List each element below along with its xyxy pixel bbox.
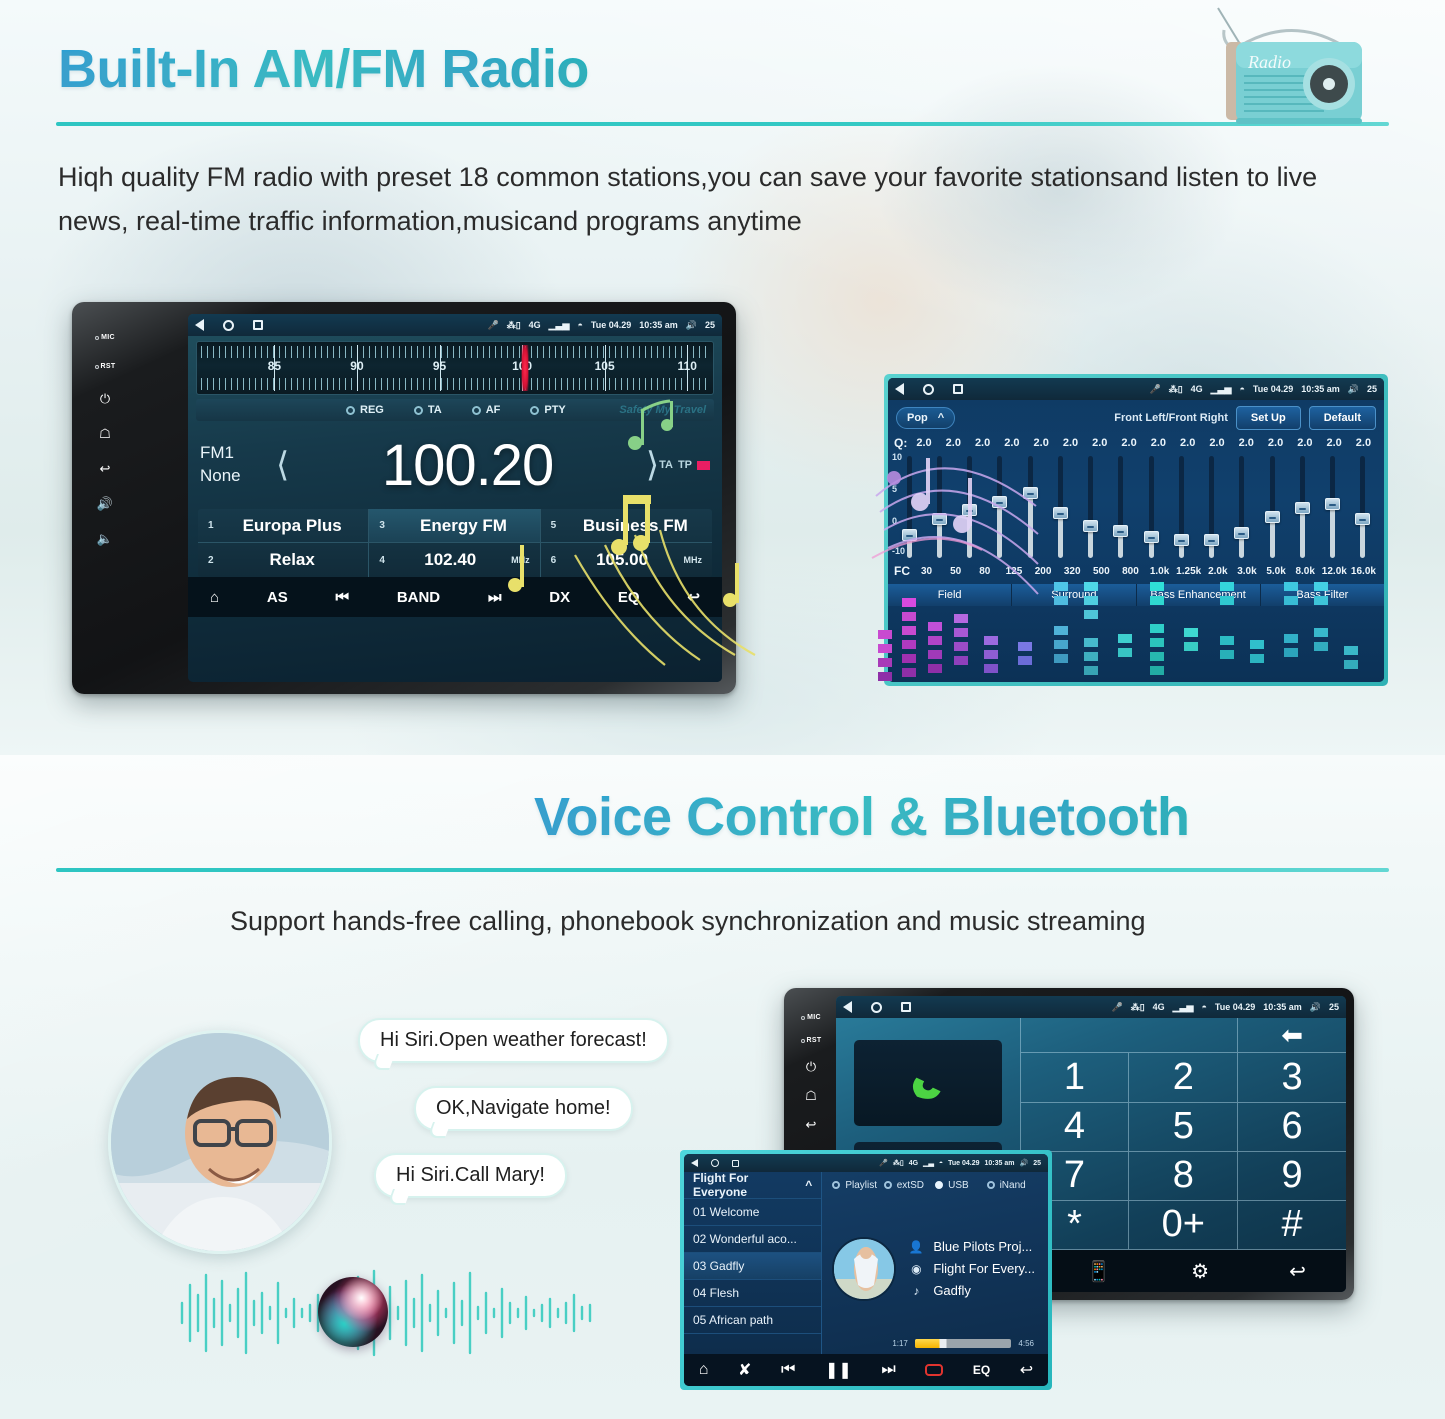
q-value[interactable]: 2.0 xyxy=(1085,437,1114,449)
eq-slider[interactable] xyxy=(1287,450,1317,562)
status-date: Tue 04.29 xyxy=(591,320,631,330)
dialpad-status-bar: 🎤 ⁂▯ 4G ▁▃▅ ◓ Tue 04.29 10:35 am 🔊 25 xyxy=(836,996,1346,1018)
preset-number: 3 xyxy=(379,520,389,531)
repeat-icon[interactable] xyxy=(925,1364,943,1376)
pause-icon[interactable]: ❚❚ xyxy=(825,1360,852,1380)
list-item[interactable]: 01 Welcome xyxy=(684,1199,821,1226)
q-value[interactable]: 2.0 xyxy=(1290,437,1319,449)
mic-button[interactable]: MIC xyxy=(95,334,115,341)
album-art xyxy=(832,1237,896,1301)
avatar xyxy=(108,1030,332,1254)
source-playlist[interactable]: Playlist xyxy=(832,1180,883,1191)
status-date: Tue 04.29 xyxy=(1215,1002,1255,1012)
band-label: 3.0k xyxy=(1232,566,1261,577)
call-answer-icon xyxy=(905,1066,951,1100)
band-label: 2.0k xyxy=(1203,566,1232,577)
person-icon: 👤 xyxy=(908,1240,924,1254)
eq-slider-knob[interactable] xyxy=(1355,513,1370,525)
signal-bars-icon: ▁▃▅ xyxy=(549,320,570,331)
source-usb[interactable]: USB xyxy=(935,1180,986,1191)
signal-bars-icon: ▁▃▅ xyxy=(1211,384,1232,395)
track-list: Flight For Everyone ^ 01 Welcome 02 Wond… xyxy=(684,1172,822,1354)
duration-time: 4:56 xyxy=(1018,1339,1034,1348)
prev-track-icon[interactable]: ⏮ xyxy=(781,1361,795,1379)
status-time: 10:35 am xyxy=(1263,1002,1302,1012)
tuner-ticks-top xyxy=(201,346,709,358)
rds-label-reg: REG xyxy=(360,404,384,416)
back-triangle-icon[interactable] xyxy=(843,1001,852,1013)
page-title-radio: Built-In AM/FM Radio xyxy=(58,38,589,100)
eq-slider[interactable] xyxy=(1106,450,1136,562)
recents-square-icon[interactable] xyxy=(732,1160,739,1167)
power-button[interactable]: ⏻ xyxy=(100,392,110,405)
track-metadata: 👤Blue Pilots Proj... ◉Flight For Every..… xyxy=(908,1239,1035,1298)
reset-button[interactable]: RST xyxy=(801,1037,822,1044)
dial-key-9[interactable]: 9 xyxy=(1237,1152,1346,1201)
status-time: 10:35 am xyxy=(985,1160,1015,1167)
settings-gear-icon[interactable]: ⚙ xyxy=(1191,1259,1209,1284)
page-title-voice: Voice Control & Bluetooth xyxy=(534,786,1189,848)
eq-slider[interactable] xyxy=(1318,450,1348,562)
recents-square-icon[interactable] xyxy=(953,384,963,394)
volume-down-button[interactable]: 🔈 xyxy=(97,532,113,545)
signal-bars-icon: ▁▃ xyxy=(923,1159,934,1167)
network-label: 4G xyxy=(529,320,541,330)
bluetooth-icon: ⁂▯ xyxy=(893,1159,904,1167)
dial-key-2[interactable]: 2 xyxy=(1128,1053,1237,1102)
abstract-sound-decoration xyxy=(866,408,1086,638)
chevron-left-icon[interactable]: ⟨ xyxy=(276,445,289,485)
voice-bubble-2: OK,Navigate home! xyxy=(414,1086,633,1131)
eq-slider-knob[interactable] xyxy=(1144,531,1159,543)
signal-bars-icon: ▁▃▅ xyxy=(1173,1002,1194,1013)
playlist-header[interactable]: Flight For Everyone ^ xyxy=(684,1172,821,1199)
preset-value: Europa Plus xyxy=(226,516,358,536)
voice-bubble-1: Hi Siri.Open weather forecast! xyxy=(358,1018,669,1063)
back-button[interactable]: ↩ xyxy=(806,1118,817,1131)
bluetooth-icon: ⁂▯ xyxy=(1169,384,1183,395)
music-screen: 🎤 ⁂▯ 4G ▁▃ ◓ Tue 04.29 10:35 am 🔊 25 Fli… xyxy=(684,1154,1048,1386)
back-button[interactable]: ↩ xyxy=(100,462,111,475)
q-value[interactable]: 2.0 xyxy=(1349,437,1378,449)
volume-level: 25 xyxy=(1367,384,1377,394)
dial-key-4[interactable]: 4 xyxy=(1020,1103,1129,1152)
volume-level: 25 xyxy=(1329,1002,1339,1012)
recents-square-icon[interactable] xyxy=(901,1002,911,1012)
voice-bubble-3: Hi Siri.Call Mary! xyxy=(374,1153,567,1198)
q-value[interactable]: 2.0 xyxy=(1114,437,1143,449)
preset-number: 1 xyxy=(208,520,218,531)
network-label: 4G xyxy=(1191,384,1203,394)
volume-up-button[interactable]: 🔊 xyxy=(97,497,113,510)
music-notes-decoration xyxy=(455,395,815,695)
voice-description: Support hands-free calling, phonebook sy… xyxy=(230,900,1146,944)
siri-orb-icon[interactable] xyxy=(318,1277,388,1347)
band-label: 1.25k xyxy=(1174,566,1203,577)
dial-key-6[interactable]: 6 xyxy=(1237,1103,1346,1152)
band-label: 1.0k xyxy=(1145,566,1174,577)
eq-button[interactable]: EQ xyxy=(973,1363,990,1377)
recents-square-icon[interactable] xyxy=(253,320,263,330)
eq-slider-knob[interactable] xyxy=(1234,527,1249,539)
source-inand[interactable]: iNand xyxy=(987,1180,1038,1191)
music-status-bar: 🎤 ⁂▯ 4G ▁▃ ◓ Tue 04.29 10:35 am 🔊 25 xyxy=(684,1154,1048,1172)
music-head-unit: 🎤 ⁂▯ 4G ▁▃ ◓ Tue 04.29 10:35 am 🔊 25 Fli… xyxy=(680,1150,1052,1390)
now-playing-panel: Playlist extSD USB iNand xyxy=(822,1172,1048,1354)
tuner-scale-labels: 85 90 95 100 105 110 xyxy=(197,359,713,379)
title-divider-radio xyxy=(56,122,1389,126)
band-label: 5.0k xyxy=(1262,566,1291,577)
radio-status-bar: 🎤 ⁂▯ 4G ▁▃▅ ◓ Tue 04.29 10:35 am 🔊 25 xyxy=(188,314,722,336)
list-item[interactable]: 04 Flesh xyxy=(684,1280,821,1307)
home-icon[interactable]: ⌂ xyxy=(699,1361,709,1379)
preset-number: 4 xyxy=(379,555,389,566)
tick-95: 95 xyxy=(433,359,446,373)
band-button[interactable]: BAND xyxy=(397,589,440,606)
status-date: Tue 04.29 xyxy=(1253,384,1293,394)
dial-key-3[interactable]: 3 xyxy=(1237,1053,1346,1102)
eq-slider[interactable] xyxy=(1227,450,1257,562)
mic-button[interactable]: MIC xyxy=(801,1014,821,1021)
prev-track-icon[interactable]: ⏮ xyxy=(336,589,350,606)
source-label: iNand xyxy=(1000,1180,1026,1191)
power-button[interactable]: ⏻ xyxy=(806,1060,816,1073)
home-circle-icon[interactable] xyxy=(871,1002,882,1013)
mic-icon: 🎤 xyxy=(879,1159,888,1167)
network-label: 4G xyxy=(1153,1002,1165,1012)
list-item[interactable]: 05 African path xyxy=(684,1307,821,1334)
svg-text:Radio: Radio xyxy=(1247,52,1291,72)
band-label: FM1 xyxy=(200,442,276,465)
tuner-ticks-bottom xyxy=(201,378,709,390)
source-selector: Playlist extSD USB iNand xyxy=(822,1172,1048,1198)
eq-slider-knob[interactable] xyxy=(1325,498,1340,510)
eq-slider-knob[interactable] xyxy=(1265,511,1280,523)
q-value[interactable]: 2.0 xyxy=(1232,437,1261,449)
reset-button-label: RST xyxy=(101,363,116,370)
vintage-radio-icon: Radio xyxy=(1206,6,1386,146)
eq-slider-knob[interactable] xyxy=(1113,525,1128,537)
list-item[interactable]: 02 Wonderful aco... xyxy=(684,1226,821,1253)
progress-track[interactable] xyxy=(915,1339,1012,1348)
eq-slider-knob[interactable] xyxy=(1204,534,1219,546)
progress-handle[interactable] xyxy=(939,1339,946,1348)
return-icon[interactable]: ↩ xyxy=(1020,1360,1033,1380)
rds-label-ta: TA xyxy=(428,404,442,416)
tick-105: 105 xyxy=(595,359,615,373)
home-circle-icon[interactable] xyxy=(711,1159,719,1167)
q-value[interactable]: 2.0 xyxy=(1320,437,1349,449)
next-track-icon[interactable]: ⏭ xyxy=(881,1361,895,1379)
bluetooth-icon: ⁂▯ xyxy=(1131,1002,1145,1013)
volume-level: 25 xyxy=(1033,1160,1041,1167)
call-answer-button[interactable] xyxy=(854,1040,1002,1126)
station-name: None xyxy=(200,465,276,488)
bluetooth-icon: ⁂▯ xyxy=(507,320,521,331)
rds-option-ta[interactable]: TA xyxy=(414,404,442,416)
wifi-icon: ◓ xyxy=(1201,1002,1206,1012)
preset-1[interactable]: 1Europa Plus xyxy=(198,509,369,543)
home-button[interactable]: ☖ xyxy=(99,427,111,440)
dial-key-1[interactable]: 1 xyxy=(1020,1053,1129,1102)
mic-button-label: MIC xyxy=(101,334,115,341)
tuner-needle[interactable] xyxy=(522,345,529,391)
home-circle-icon[interactable] xyxy=(923,384,934,395)
artist-name: Blue Pilots Proj... xyxy=(933,1239,1032,1254)
band-info: FM1 None xyxy=(200,442,276,488)
home-icon[interactable]: ⌂ xyxy=(210,589,219,606)
eq-slider-knob[interactable] xyxy=(1295,502,1310,514)
eq-status-bar: 🎤 ⁂▯ 4G ▁▃▅ ◓ Tue 04.29 10:35 am 🔊 25 xyxy=(888,378,1384,400)
preset-2[interactable]: 2Relax xyxy=(198,543,369,577)
shuffle-icon[interactable]: ✘ xyxy=(738,1360,751,1380)
eq-channel-label: Front Left/Front Right xyxy=(1114,412,1228,424)
status-time: 10:35 am xyxy=(1301,384,1340,394)
radio-tuner-scale[interactable]: 85 90 95 100 105 110 xyxy=(196,341,714,395)
mic-button-label: MIC xyxy=(807,1014,821,1021)
source-extsd[interactable]: extSD xyxy=(884,1180,935,1191)
q-value[interactable]: 2.0 xyxy=(1144,437,1173,449)
q-value[interactable]: 2.0 xyxy=(1202,437,1231,449)
elapsed-time: 1:17 xyxy=(892,1339,908,1348)
preset-value: Relax xyxy=(226,550,358,570)
home-circle-icon[interactable] xyxy=(223,320,234,331)
tick-85: 85 xyxy=(268,359,281,373)
speaker-icon: 🔊 xyxy=(1310,1002,1321,1013)
backspace-arrow-icon[interactable]: ⬅ xyxy=(1237,1018,1346,1053)
source-label: USB xyxy=(948,1180,969,1191)
back-triangle-icon[interactable] xyxy=(895,383,904,395)
eq-default-button[interactable]: Default xyxy=(1309,406,1376,430)
dialpad-icon[interactable]: 📱 xyxy=(1086,1259,1111,1284)
reset-button-label: RST xyxy=(807,1037,822,1044)
disc-icon: ◉ xyxy=(908,1262,924,1276)
speaker-icon: 🔊 xyxy=(1348,384,1359,395)
eq-slider[interactable] xyxy=(1197,450,1227,562)
back-triangle-icon[interactable] xyxy=(691,1159,698,1167)
back-triangle-icon[interactable] xyxy=(195,319,204,331)
mic-icon: 🎤 xyxy=(1149,384,1160,395)
dial-key-hash[interactable]: # xyxy=(1237,1201,1346,1250)
playlist-name: Flight For Everyone xyxy=(693,1171,805,1199)
return-icon[interactable]: ↩ xyxy=(1289,1259,1306,1284)
dial-key-0[interactable]: 0+ xyxy=(1128,1201,1237,1250)
chevron-up-icon: ^ xyxy=(805,1178,812,1192)
network-label: 4G xyxy=(909,1160,918,1167)
band-label: 8.0k xyxy=(1291,566,1320,577)
album-name: Flight For Every... xyxy=(933,1261,1035,1276)
mic-icon: 🎤 xyxy=(1111,1002,1122,1013)
volume-level: 25 xyxy=(705,320,715,330)
band-label: 800 xyxy=(1116,566,1145,577)
dial-key-8[interactable]: 8 xyxy=(1128,1152,1237,1201)
music-display: 🎤 ⁂▯ 4G ▁▃ ◓ Tue 04.29 10:35 am 🔊 25 Fli… xyxy=(684,1154,1048,1386)
wifi-icon: ◓ xyxy=(939,1160,943,1167)
speaker-icon: 🔊 xyxy=(686,320,697,331)
eq-slider[interactable] xyxy=(1136,450,1166,562)
as-button[interactable]: AS xyxy=(267,589,288,606)
reset-button[interactable]: RST xyxy=(95,363,116,370)
band-label: 12.0k xyxy=(1320,566,1349,577)
status-time: 10:35 am xyxy=(639,320,678,330)
dial-key-5[interactable]: 5 xyxy=(1128,1103,1237,1152)
dial-number-field[interactable] xyxy=(1020,1018,1238,1053)
track-name: Gadfly xyxy=(933,1283,971,1298)
band-label: 16.0k xyxy=(1349,566,1378,577)
band-label: 500 xyxy=(1087,566,1116,577)
eq-slider-knob[interactable] xyxy=(1174,534,1189,546)
radio-description: Hiqh quality FM radio with preset 18 com… xyxy=(58,156,1388,243)
physical-button-strip: MIC RST ⏻ ☖ ↩ 🔊 🔈 xyxy=(86,318,124,676)
eq-setup-button[interactable]: Set Up xyxy=(1236,406,1301,430)
rds-option-reg[interactable]: REG xyxy=(346,404,384,416)
wifi-icon: ◓ xyxy=(577,320,582,330)
now-playing-info: 👤Blue Pilots Proj... ◉Flight For Every..… xyxy=(822,1198,1048,1339)
wifi-icon: ◓ xyxy=(1239,384,1244,394)
title-divider-voice xyxy=(56,868,1389,872)
source-label: Playlist xyxy=(845,1180,877,1191)
q-value[interactable]: 2.0 xyxy=(1173,437,1202,449)
playback-progress[interactable]: 1:17 4:56 xyxy=(822,1339,1048,1354)
source-label: extSD xyxy=(897,1180,924,1191)
dialpad-grid: ⬅ 1 2 3 4 5 6 7 8 9 * 0+ # xyxy=(1020,1018,1346,1250)
note-icon: ♪ xyxy=(908,1284,924,1298)
music-toolbar: ⌂ ✘ ⏮ ❚❚ ⏭ EQ ↩ xyxy=(684,1354,1048,1386)
speaker-icon: 🔊 xyxy=(1019,1159,1028,1167)
home-button[interactable]: ☖ xyxy=(805,1089,817,1102)
q-value[interactable]: 2.0 xyxy=(1261,437,1290,449)
list-item[interactable]: 03 Gadfly xyxy=(684,1253,821,1280)
eq-slider[interactable] xyxy=(1348,450,1378,562)
eq-slider[interactable] xyxy=(1166,450,1196,562)
music-body: Flight For Everyone ^ 01 Welcome 02 Wond… xyxy=(684,1172,1048,1354)
tick-110: 110 xyxy=(678,359,697,373)
status-date: Tue 04.29 xyxy=(948,1160,979,1167)
eq-slider[interactable] xyxy=(1257,450,1287,562)
tick-90: 90 xyxy=(350,359,363,373)
mic-icon: 🎤 xyxy=(487,320,498,331)
preset-number: 2 xyxy=(208,555,218,566)
